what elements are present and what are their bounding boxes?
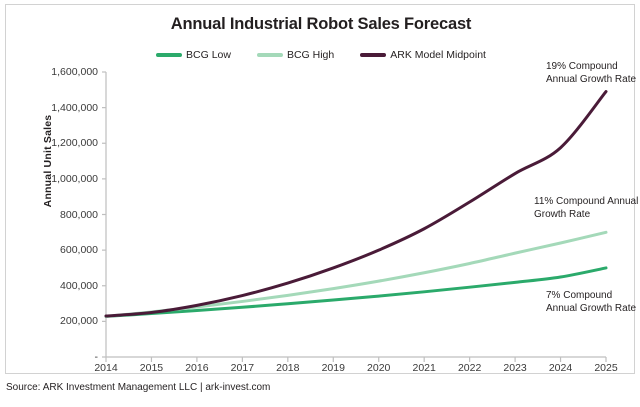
x-axis-tick-label: 2015 [128, 362, 174, 374]
x-axis-tick-label: 2024 [538, 362, 584, 374]
series-line-ark-model-midpoint[interactable] [106, 92, 606, 316]
y-axis-tick-label: 1,600,000 [28, 66, 98, 78]
annotation-ark-growth-rate: 19% Compound Annual Growth Rate [546, 61, 638, 86]
axis-lines [106, 72, 606, 357]
chart-panel: Annual Industrial Robot Sales Forecast B… [5, 4, 635, 374]
legend-label-bcg-low: BCG Low [186, 49, 231, 61]
chart-legend: BCG Low BCG High ARK Model Midpoint [6, 49, 636, 61]
data-series-group [106, 92, 606, 317]
legend-item-bcg-high[interactable]: BCG High [257, 49, 334, 61]
x-axis-tick-labels: 2014201520162017201820192020202120222023… [106, 362, 606, 380]
series-line-bcg-high[interactable] [106, 232, 606, 316]
x-axis-tick-label: 2023 [492, 362, 538, 374]
y-axis-tick-label: 800,000 [28, 209, 98, 221]
x-axis-tick-label: 2014 [83, 362, 129, 374]
legend-label-bcg-high: BCG High [287, 49, 334, 61]
y-axis-tick-label: 400,000 [28, 280, 98, 292]
legend-swatch-bcg-high [257, 53, 283, 57]
legend-item-ark-model-midpoint[interactable]: ARK Model Midpoint [360, 49, 486, 61]
annotation-bcg-low-growth-rate: 7% Compound Annual Growth Rate [546, 290, 638, 315]
legend-label-ark-model-midpoint: ARK Model Midpoint [390, 49, 486, 61]
x-axis-tick-label: 2018 [265, 362, 311, 374]
plot-svg [106, 72, 606, 357]
x-axis-tick-label: 2019 [310, 362, 356, 374]
annotation-bcg-high-growth-rate: 11% Compound Annual Growth Rate [534, 196, 640, 221]
y-axis-tick-label: 1,200,000 [28, 137, 98, 149]
y-axis-tick-label: 600,000 [28, 244, 98, 256]
y-axis-tick-label: 200,000 [28, 315, 98, 327]
legend-swatch-bcg-low [156, 53, 182, 57]
legend-item-bcg-low[interactable]: BCG Low [156, 49, 231, 61]
y-axis-tick-label: 1,000,000 [28, 173, 98, 185]
x-axis-tick-label: 2022 [447, 362, 493, 374]
y-axis-tick-labels: 1,600,0001,400,0001,200,0001,000,000800,… [28, 5, 98, 407]
x-axis-tick-label: 2016 [174, 362, 220, 374]
source-note: Source: ARK Investment Management LLC | … [6, 382, 270, 393]
plot-area [106, 72, 606, 357]
chart-title: Annual Industrial Robot Sales Forecast [6, 15, 636, 34]
x-axis-tick-label: 2017 [219, 362, 265, 374]
x-axis-tick-label: 2025 [583, 362, 629, 374]
y-axis-tick-label: 1,400,000 [28, 102, 98, 114]
chart-figure: Annual Industrial Robot Sales Forecast B… [0, 0, 640, 402]
x-axis-tick-label: 2021 [401, 362, 447, 374]
x-axis-tick-label: 2020 [356, 362, 402, 374]
legend-swatch-ark-model-midpoint [360, 53, 386, 57]
